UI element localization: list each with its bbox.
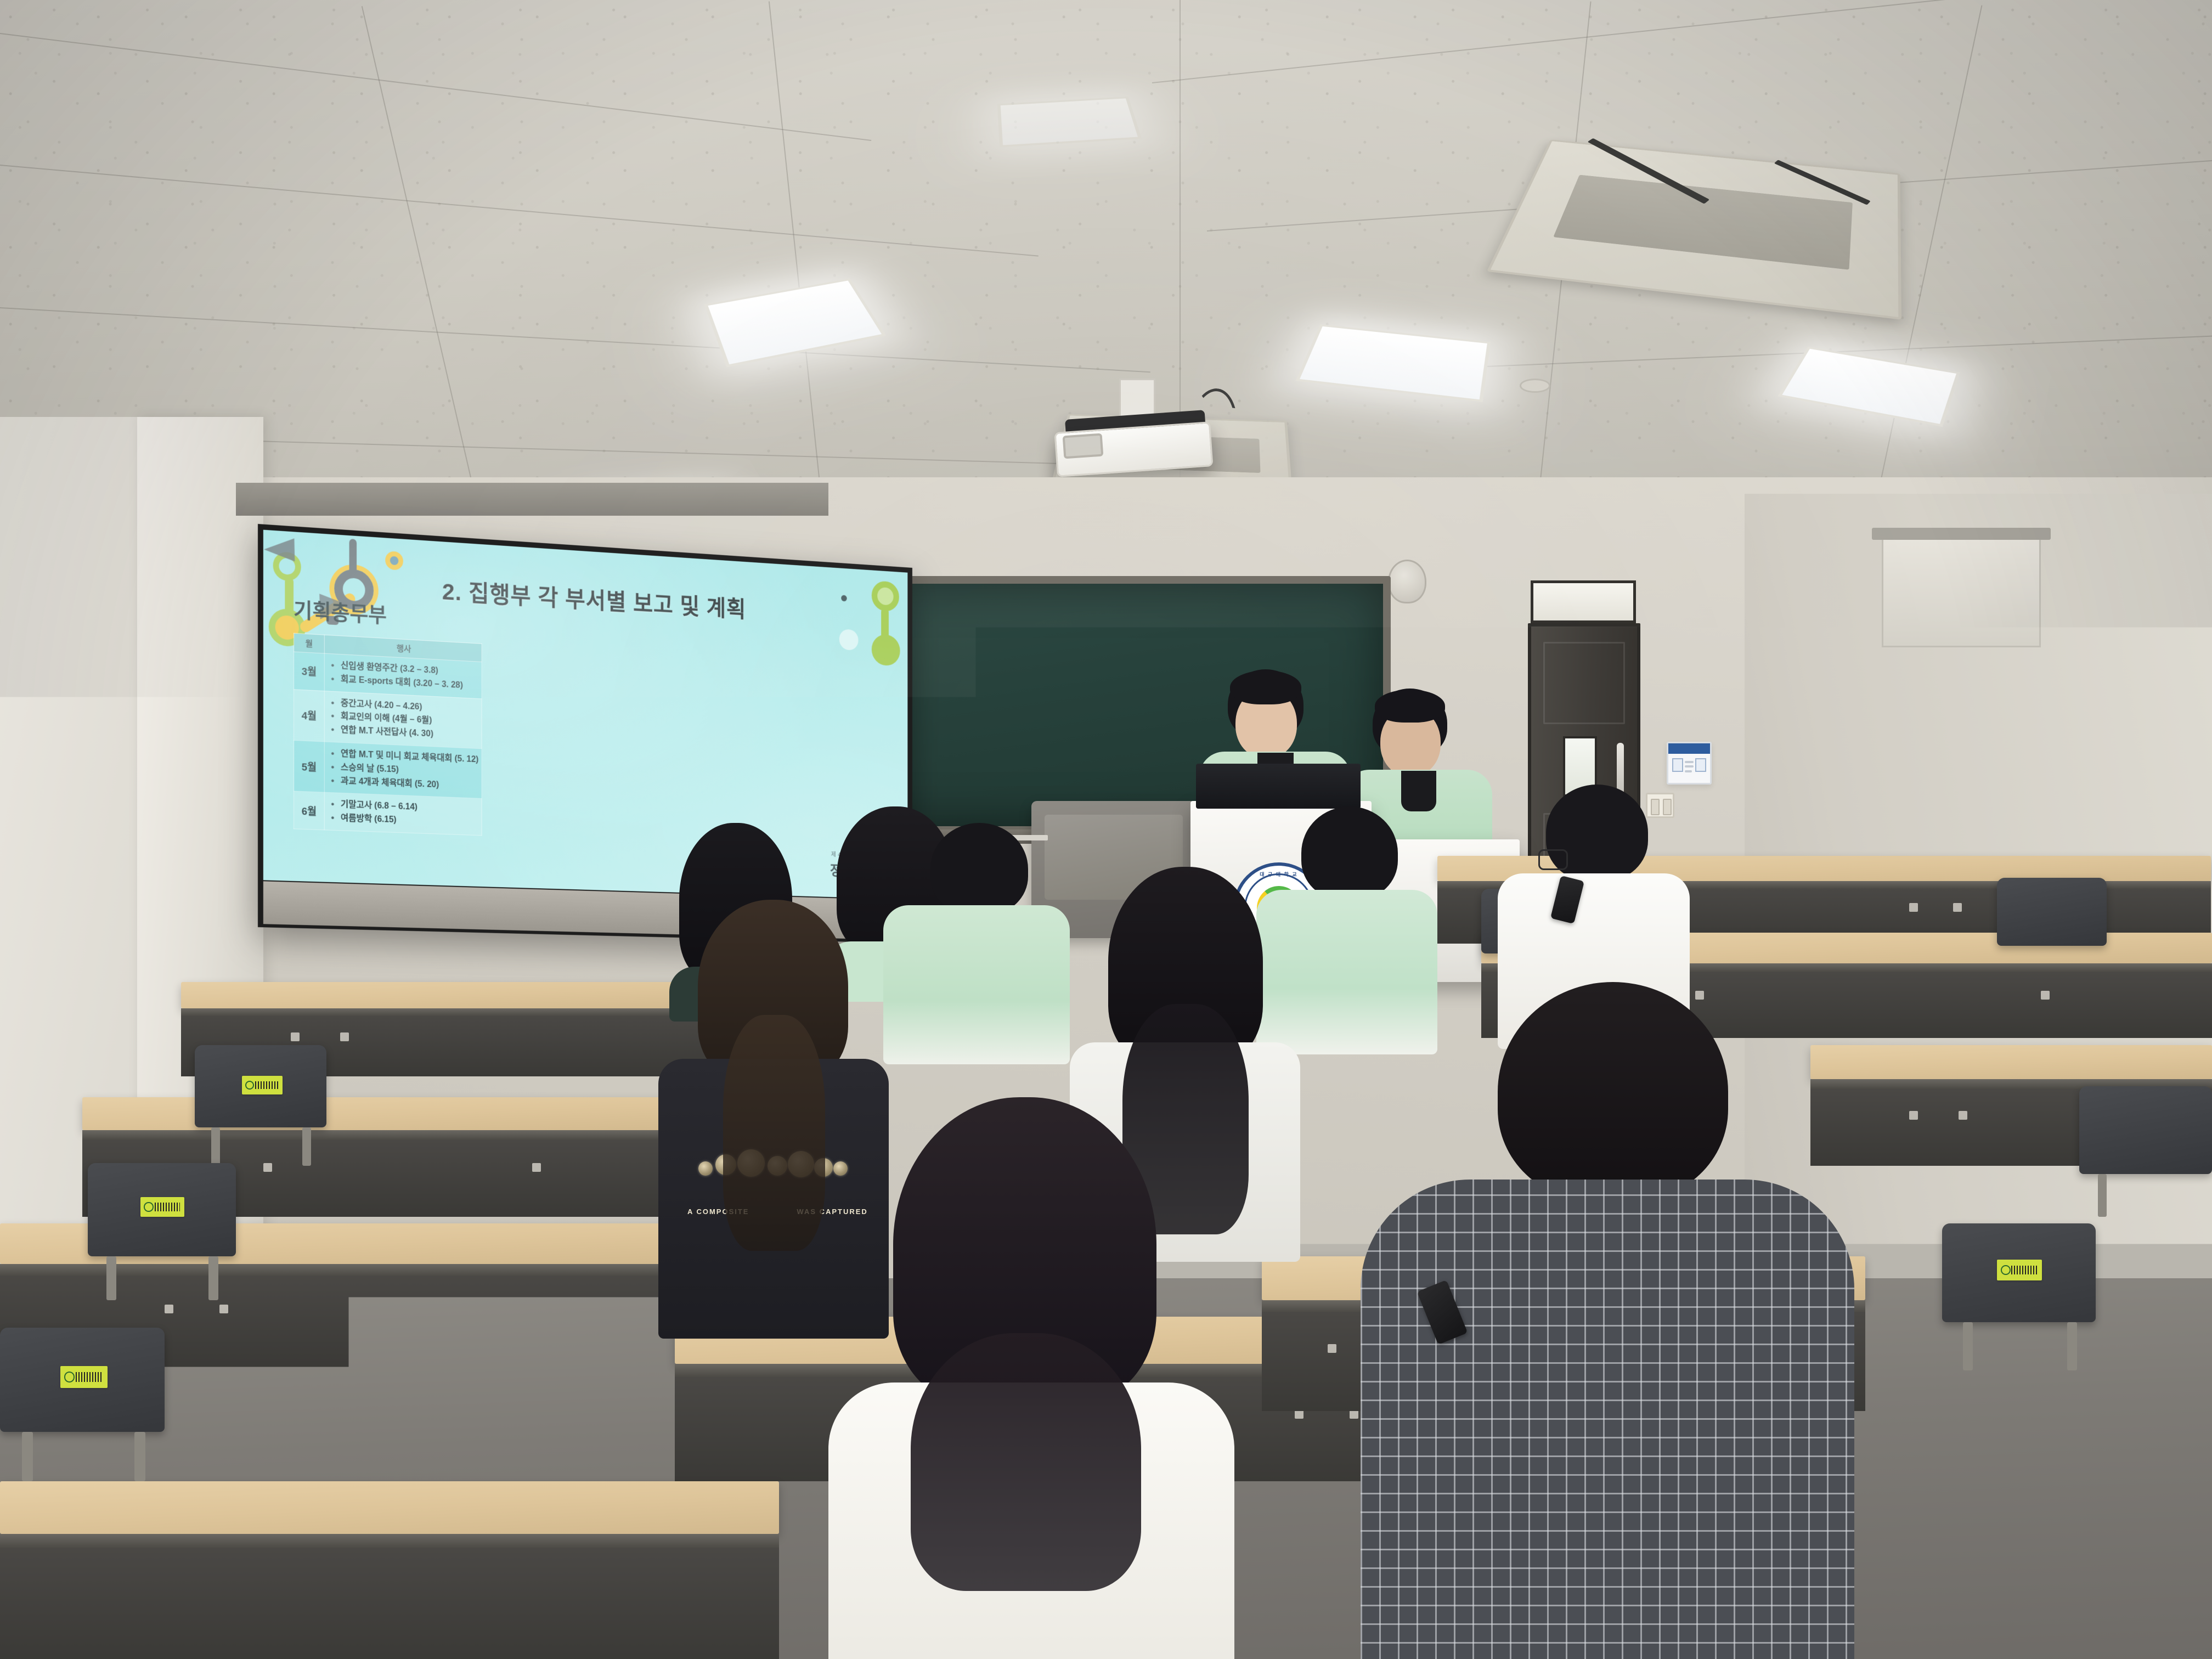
torso-jacket — [883, 905, 1070, 1064]
presentation-slide: 2. 집행부 각 부서별 보고 및 계획 기획총무부 월 행사 3월 — [263, 530, 907, 900]
panel-vent — [532, 1163, 541, 1172]
chair-backrest[interactable] — [2079, 1086, 2212, 1174]
desk-edge — [181, 1008, 735, 1016]
recycle-mark — [2001, 1265, 2011, 1275]
chair-leg — [134, 1432, 145, 1481]
row-events: 기말고사 (6.8 – 6.14) 여름방학 (6.15) — [324, 793, 482, 836]
desk-surface — [82, 1097, 719, 1130]
panel-vent — [1909, 903, 1918, 912]
panel-vent — [1909, 1111, 1918, 1120]
smoke-detector — [1520, 379, 1550, 393]
column-header-month: 월 — [294, 633, 325, 653]
barcode — [155, 1203, 180, 1211]
asset-barcode-tag — [140, 1197, 184, 1217]
placard-text-line — [1685, 765, 1693, 768]
panel-vent — [494, 1305, 503, 1313]
hair-fringe — [1375, 690, 1445, 723]
hair — [1498, 982, 1728, 1201]
asset-barcode-tag — [60, 1366, 108, 1388]
glasses — [1538, 849, 1568, 870]
window-roller-shade — [1882, 538, 2041, 647]
screen-surface: 2. 집행부 각 부서별 보고 및 계획 기획총무부 월 행사 3월 — [263, 530, 907, 900]
barcode — [2011, 1266, 2038, 1275]
panel-vent — [291, 1032, 300, 1041]
door-transom-window — [1531, 580, 1636, 623]
panel-vent — [1959, 1111, 1967, 1120]
event-list: 연합 M.T 및 미니 회교 체육대회 (5. 12) 스승의 날 (5.15)… — [328, 747, 479, 794]
slide-department-heading: 기획총무부 — [294, 593, 387, 628]
chair-leg — [2067, 1322, 2077, 1370]
desk-surface — [1810, 1045, 2212, 1079]
desk-row-foreground — [0, 1481, 779, 1659]
placard-icon-left — [1672, 758, 1683, 771]
panel-vent — [1328, 1344, 1336, 1353]
placard-text-line — [1685, 761, 1693, 763]
deco-node-green-ring — [872, 634, 900, 666]
panel-vent — [165, 1305, 173, 1313]
inner-shirt — [1401, 771, 1436, 811]
podium-monitor — [1196, 764, 1361, 809]
classroom-scene: 2. 집행부 각 부서별 보고 및 계획 기획총무부 월 행사 3월 — [0, 0, 2212, 1659]
row-events: 중간고사 (4.20 – 4.26) 회교인의 이해 (4월 – 6월) 연합 … — [324, 691, 482, 749]
recycle-mark — [144, 1202, 154, 1211]
chair[interactable] — [2079, 1086, 2212, 1218]
door-upper-panel — [1543, 642, 1625, 724]
desk-edge — [82, 1130, 719, 1140]
projector-cable — [1188, 385, 1243, 436]
shade-rail — [1872, 528, 2051, 540]
chair[interactable] — [88, 1163, 236, 1300]
chair[interactable] — [1997, 878, 2107, 977]
desk-modesty-panel — [0, 1548, 779, 1659]
chair[interactable] — [195, 1045, 326, 1166]
row-month: 4월 — [294, 689, 325, 742]
row-month: 6월 — [294, 791, 325, 830]
chair-leg — [106, 1256, 116, 1300]
asset-barcode-tag — [242, 1076, 283, 1094]
chair[interactable] — [0, 1328, 165, 1481]
projector-lens — [1063, 433, 1104, 459]
row-month: 3월 — [294, 652, 325, 691]
desk-surface — [181, 982, 735, 1008]
audience-member — [828, 1097, 1234, 1659]
placard-icon-right — [1695, 758, 1706, 771]
projector-mount — [1119, 379, 1155, 418]
chair-leg — [22, 1432, 33, 1481]
desk-edge — [0, 1534, 779, 1548]
schedule-table: 월 행사 3월 신입생 환영주간 (3.2 – 3.8) 회교 E-sports… — [294, 633, 482, 836]
deco-arrow — [264, 530, 301, 562]
event-list: 신입생 환영주간 (3.2 – 3.8) 회교 E-sports 대회 (3.2… — [328, 659, 479, 693]
recycle-mark — [64, 1372, 75, 1382]
chair[interactable] — [1942, 1223, 2096, 1372]
moon-phase-icon — [698, 1161, 713, 1176]
barcode — [76, 1372, 103, 1382]
table-row: 6월 기말고사 (6.8 – 6.14) 여름방학 (6.15) — [294, 791, 482, 835]
panel-vent — [2041, 991, 2050, 1000]
barcode — [255, 1081, 279, 1090]
projection-screen: 2. 집행부 각 부서별 보고 및 계획 기획총무부 월 행사 3월 — [258, 524, 912, 944]
screen-soffit — [236, 483, 828, 516]
deco-node-glow — [839, 629, 859, 651]
hair — [1301, 806, 1398, 900]
deco-node-blue-dot — [385, 551, 403, 571]
chair-leg — [211, 1127, 220, 1166]
asset-barcode-tag — [1997, 1260, 2042, 1280]
recycle-mark — [245, 1081, 254, 1090]
desk-surface — [0, 1481, 779, 1534]
hair-fringe — [1230, 670, 1301, 704]
placard-text-line — [1685, 770, 1691, 772]
panel-vent — [340, 1032, 349, 1041]
ceiling-light-panel — [997, 97, 1142, 148]
event-list: 중간고사 (4.20 – 4.26) 회교인의 이해 (4월 – 6월) 연합 … — [328, 696, 479, 743]
ac-grille — [1553, 175, 1853, 270]
wall-instruction-placard — [1667, 742, 1712, 785]
wall-speaker — [1388, 560, 1426, 603]
chair-leg — [208, 1256, 218, 1300]
hair — [930, 823, 1028, 915]
chair-leg — [2098, 1174, 2107, 1217]
event-list: 기말고사 (6.8 – 6.14) 여름방학 (6.15) — [328, 798, 479, 830]
chair-leg — [302, 1127, 311, 1166]
panel-vent — [1953, 903, 1962, 912]
panel-vent — [219, 1305, 228, 1313]
hair-over-shoulder — [911, 1333, 1141, 1591]
torso-plaid-shirt — [1361, 1180, 1854, 1659]
hair-front-strands — [723, 1015, 825, 1251]
table-row: 5월 연합 M.T 및 미니 회교 체육대회 (5. 12) 스승의 날 (5.… — [294, 740, 482, 798]
row-month: 5월 — [294, 740, 325, 792]
row-events: 연합 M.T 및 미니 회교 체육대회 (5. 12) 스승의 날 (5.15)… — [324, 742, 482, 799]
placard-header-bar — [1668, 743, 1710, 754]
chair-backrest[interactable] — [1997, 878, 2107, 946]
audience-member — [883, 823, 1070, 1053]
table-row: 4월 중간고사 (4.20 – 4.26) 회교인의 이해 (4월 – 6월) … — [294, 689, 482, 748]
chair-leg — [1963, 1322, 1973, 1370]
